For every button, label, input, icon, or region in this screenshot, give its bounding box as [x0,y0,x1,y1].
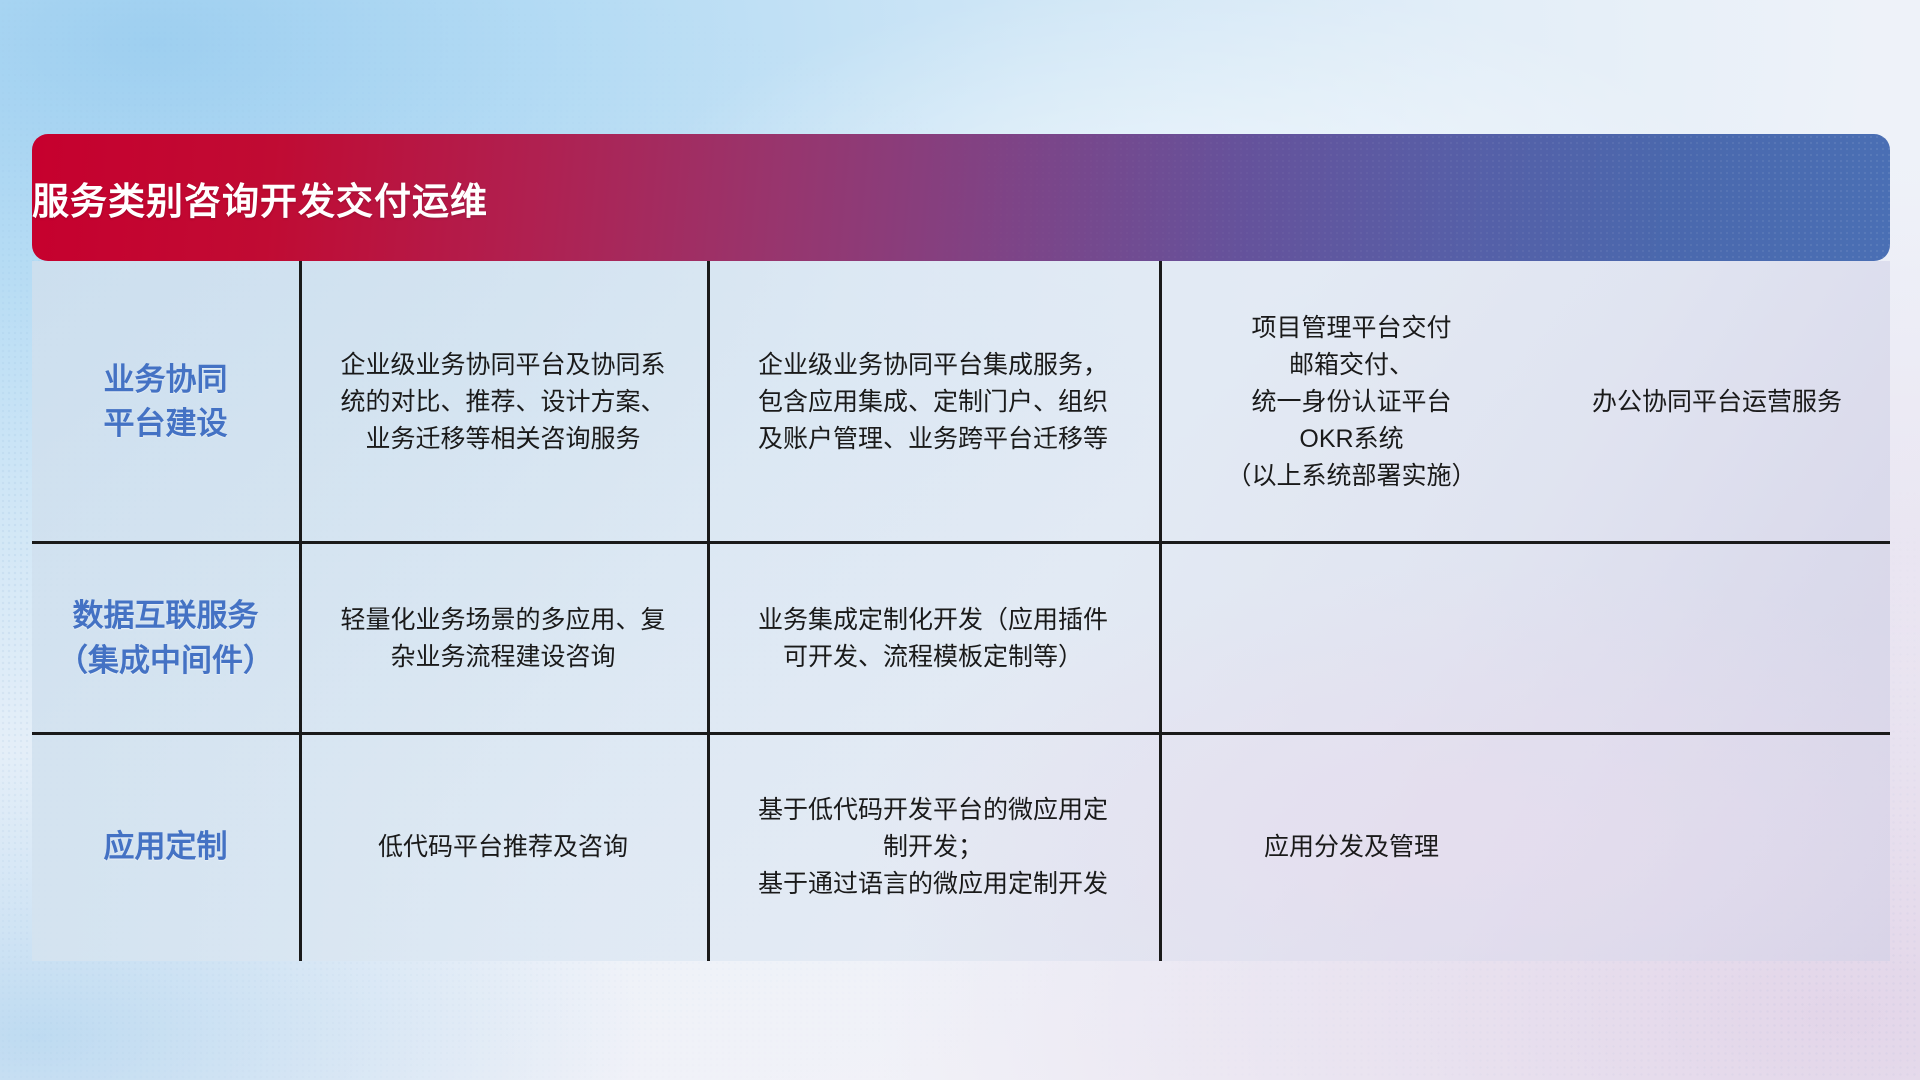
cell-consulting: 企业级业务协同平台及协同系 统的对比、推荐、设计方案、 业务迁移等相关咨询服务 [299,261,707,543]
cell-delivery: 项目管理平台交付 邮箱交付、 统一身份认证平台 OKR系统 （以上系统部署实施） [1159,261,1544,543]
cell-delivery: 应用分发及管理 [1159,734,1544,961]
cell-development: 业务集成定制化开发（应用插件 可开发、流程模板定制等） [707,543,1159,734]
row-label-cell: 业务协同 平台建设 [32,261,299,543]
row-label-text: 应用定制 [104,825,228,869]
table-row: 数据互联服务 （集成中间件） 轻量化业务场景的多应用、复 杂业务流程建设咨询 业… [32,543,1890,734]
row-label-text: 业务协同 平台建设 [104,358,228,446]
header-cell-development: 开发 [260,171,336,225]
cell-delivery [1159,543,1544,734]
table-row: 应用定制 低代码平台推荐及咨询 基于低代码开发平台的微应用定 制开发； 基于通过… [32,734,1890,961]
header-cell-consulting: 咨询 [184,171,260,225]
cell-operations [1544,734,1890,961]
table-header-row: 服务类别 咨询 开发 交付 运维 [32,134,1890,261]
cell-consulting: 轻量化业务场景的多应用、复 杂业务流程建设咨询 [299,543,707,734]
header-cell-operations: 运维 [412,171,488,225]
table-body: 业务协同 平台建设 企业级业务协同平台及协同系 统的对比、推荐、设计方案、 业务… [32,261,1890,961]
cell-development: 基于低代码开发平台的微应用定 制开发； 基于通过语言的微应用定制开发 [707,734,1159,961]
row-label-cell: 应用定制 [32,734,299,961]
row-label-text: 数据互联服务 （集成中间件） [57,594,274,682]
cell-operations: 办公协同平台运营服务 [1544,261,1890,543]
cell-development: 企业级业务协同平台集成服务， 包含应用集成、定制门户、组织 及账户管理、业务跨平… [707,261,1159,543]
row-label-cell: 数据互联服务 （集成中间件） [32,543,299,734]
header-cell-service-category: 服务类别 [32,171,184,225]
service-matrix-table: 服务类别 咨询 开发 交付 运维 业务协同 平台建设 企业级业务协同平台及协同系… [32,134,1890,962]
cell-operations [1544,543,1890,734]
cell-consulting: 低代码平台推荐及咨询 [299,734,707,961]
table-row: 业务协同 平台建设 企业级业务协同平台及协同系 统的对比、推荐、设计方案、 业务… [32,261,1890,543]
header-cell-delivery: 交付 [336,171,412,225]
